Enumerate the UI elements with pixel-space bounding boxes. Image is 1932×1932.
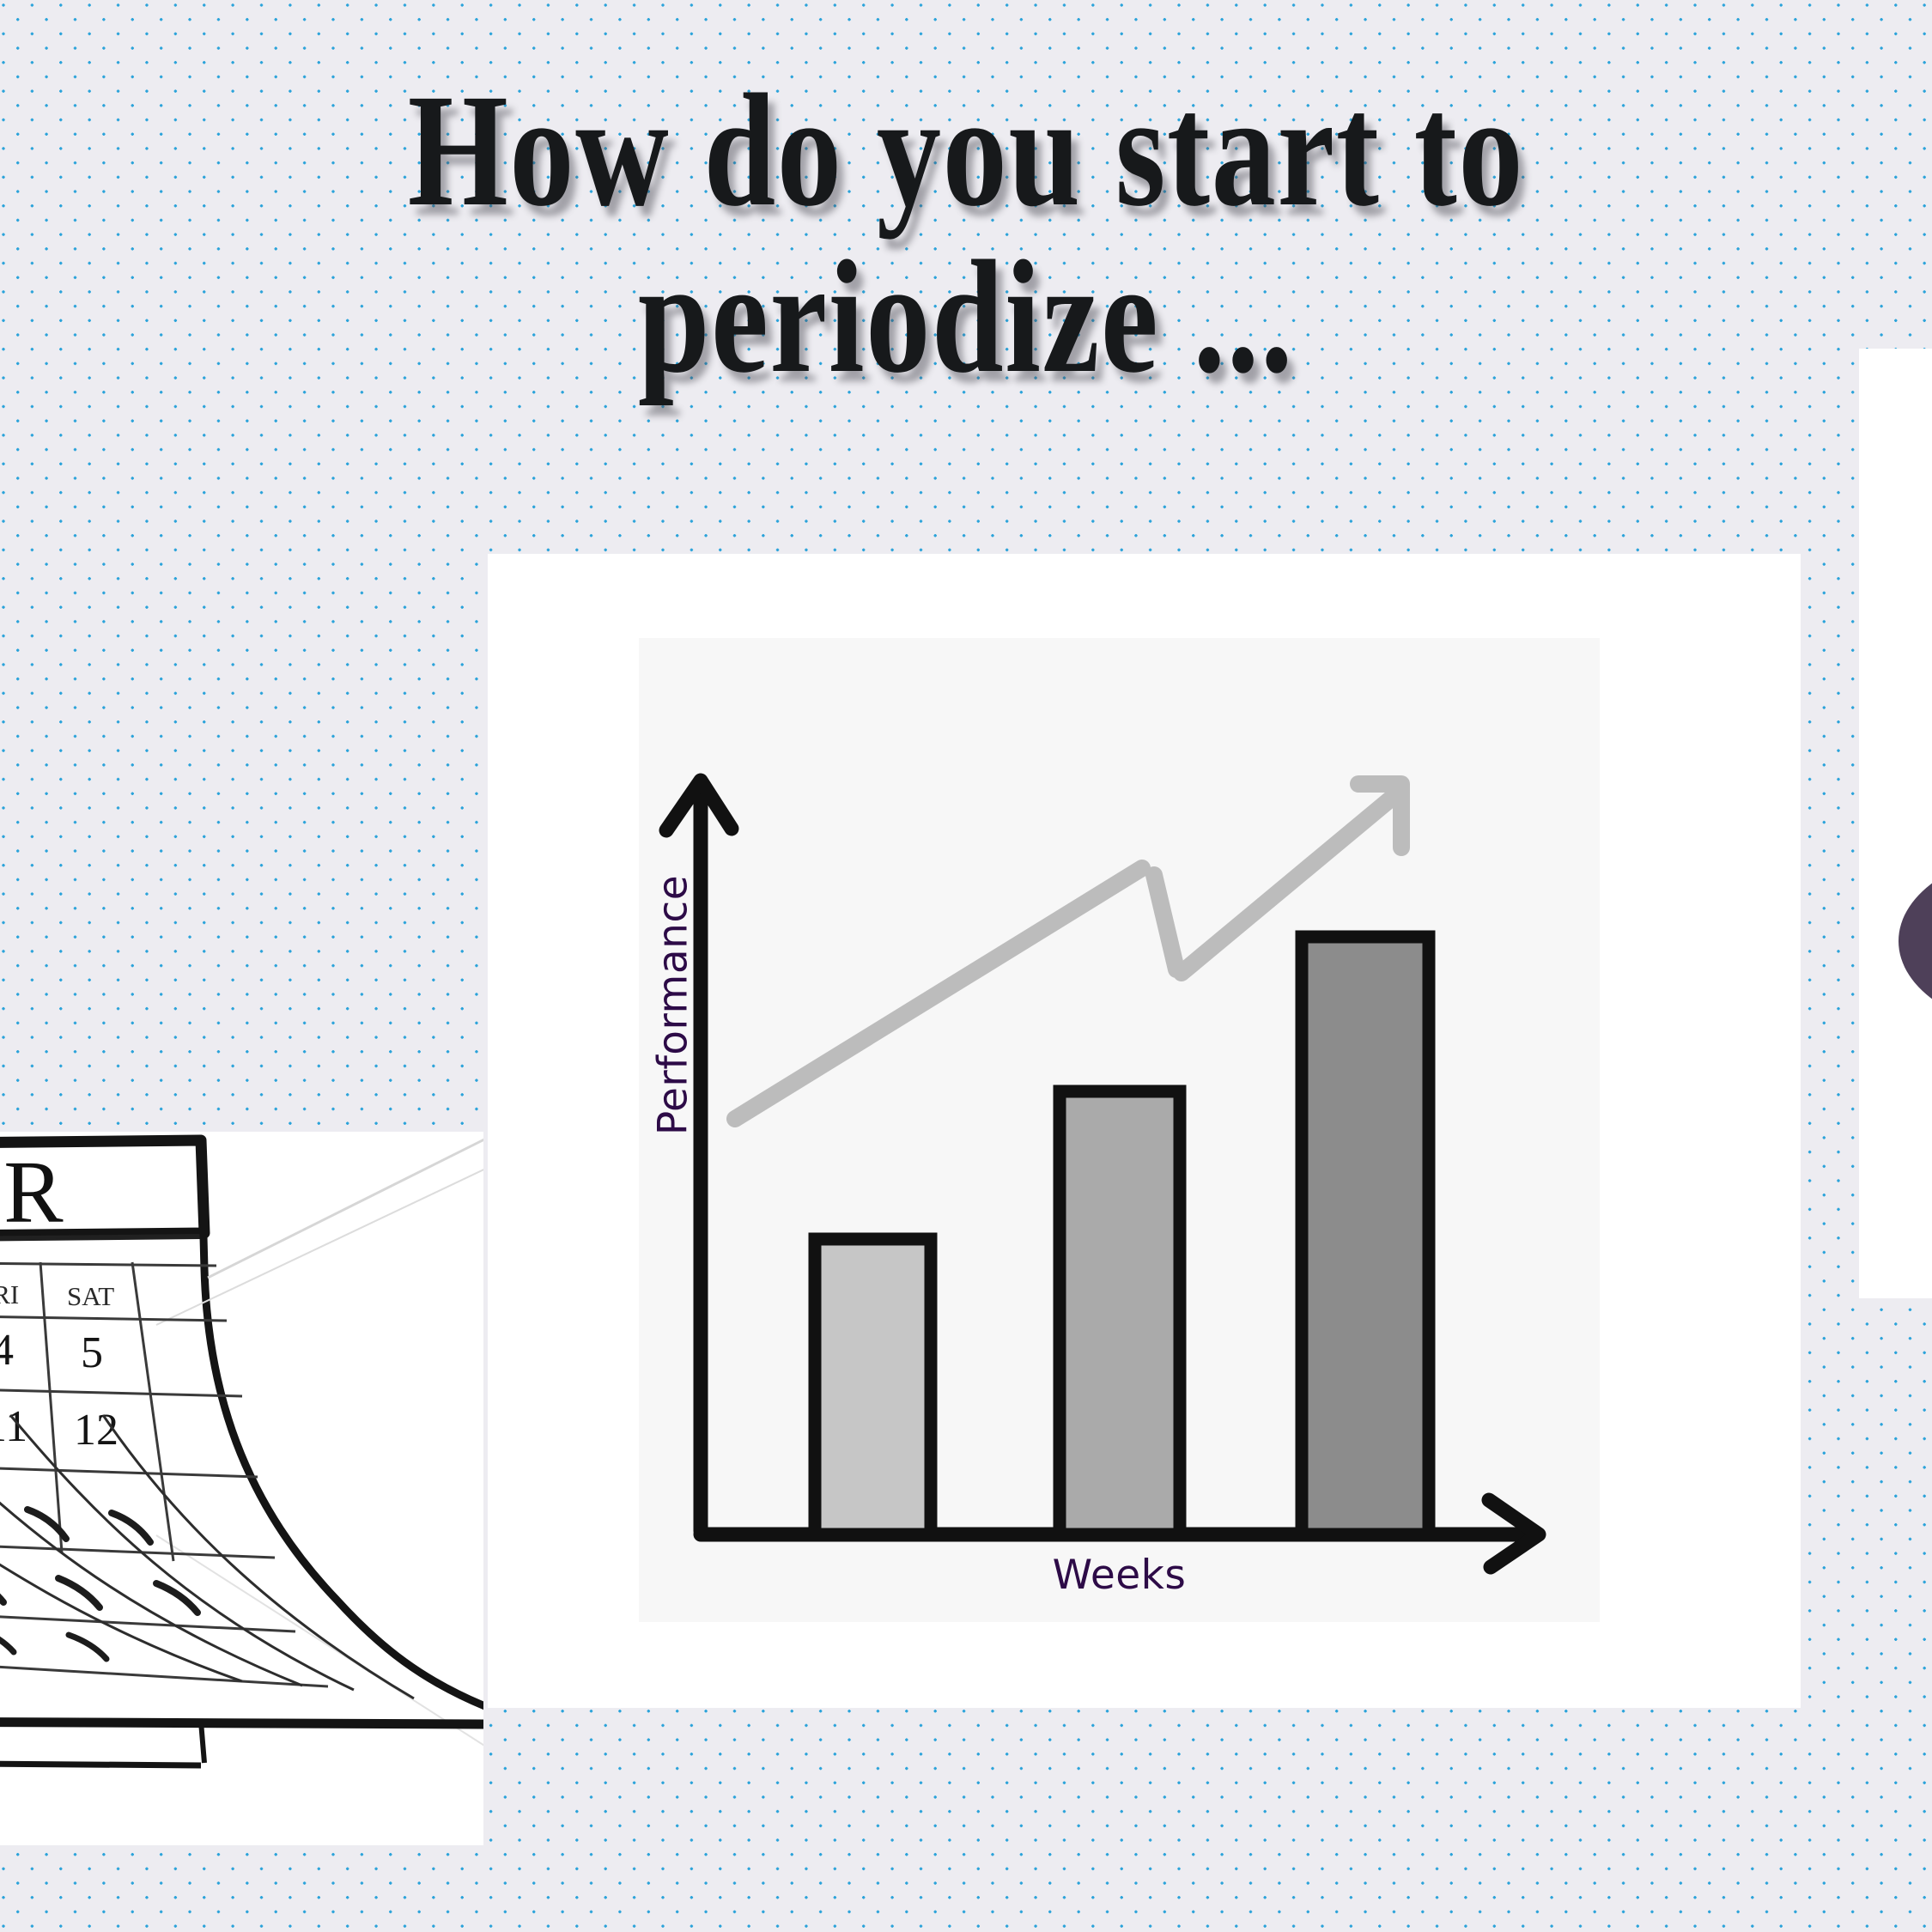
person-illustration-card — [1859, 349, 1932, 1298]
bar-3 — [1302, 937, 1429, 1534]
bar-chart-panel: Performance Weeks — [639, 638, 1600, 1622]
calendar-illustration-card: DAR WED FRI SAT 3 4 5 10 11 12 — [0, 1132, 483, 1845]
bar-chart-graphic — [639, 638, 1600, 1622]
bar-2 — [1060, 1091, 1180, 1534]
svg-text:4: 4 — [0, 1326, 14, 1375]
svg-text:DAR: DAR — [0, 1143, 69, 1242]
svg-text:11: 11 — [0, 1402, 27, 1451]
slide-canvas: How do you start to periodize ... DAR — [0, 0, 1932, 1932]
svg-text:SAT: SAT — [67, 1281, 114, 1311]
y-axis-label: Performance — [650, 842, 697, 1169]
calendar-illustration: DAR WED FRI SAT 3 4 5 10 11 12 — [0, 1132, 483, 1845]
person-illustration — [1859, 349, 1932, 1298]
svg-text:5: 5 — [81, 1328, 103, 1377]
svg-text:12: 12 — [74, 1406, 118, 1455]
svg-text:FRI: FRI — [0, 1279, 19, 1309]
bar-1 — [815, 1239, 931, 1534]
chart-card: Performance Weeks — [488, 554, 1801, 1708]
x-axis-label: Weeks — [639, 1552, 1600, 1599]
